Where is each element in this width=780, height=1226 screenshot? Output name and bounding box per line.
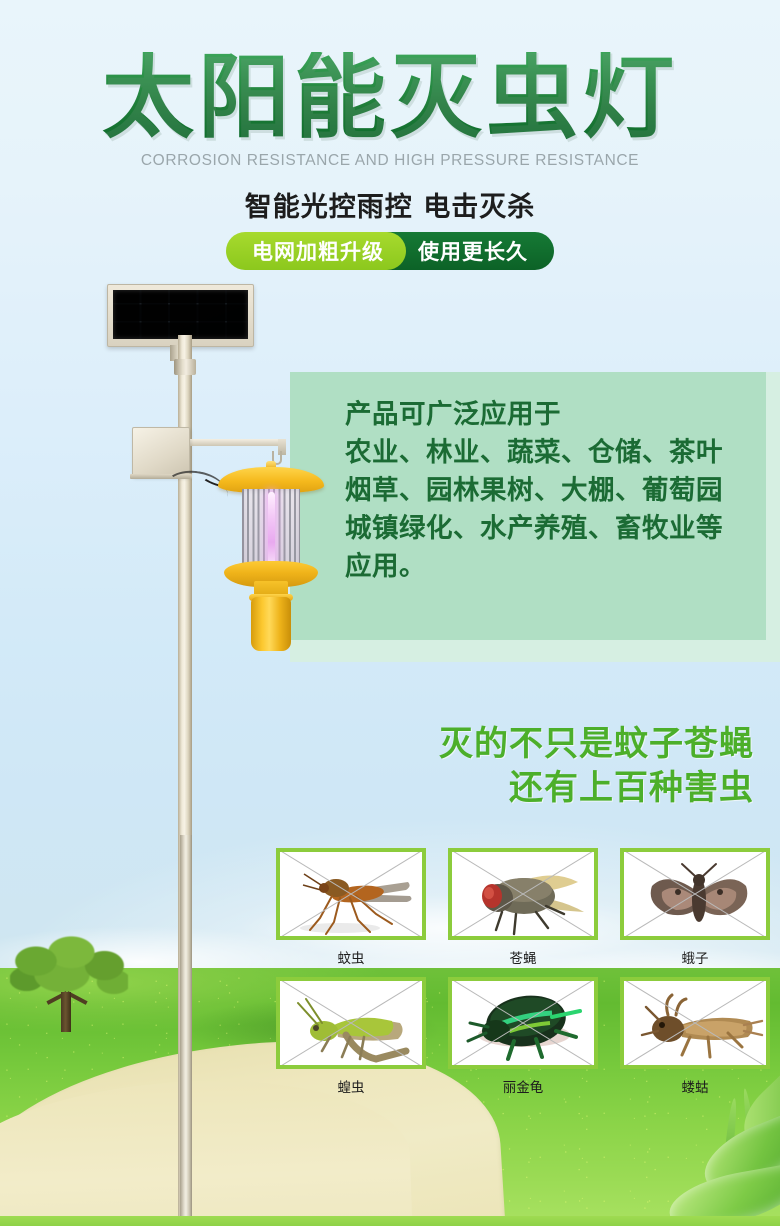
feature-badges: 电网加粗升级 使用更长久 [0,232,780,270]
insect-row: 蚊虫 苍蝇 [276,848,772,967]
insect-killer-lamp-icon [218,461,324,651]
insect-cell: 蛾子 [620,848,770,967]
insect-thumbnail [620,977,770,1069]
insect-row: 蝗虫 [276,977,772,1096]
product-poster: 太阳能灭虫灯 CORROSION RESISTANCE AND HIGH PRE… [0,0,780,1226]
insect-label: 蛾子 [620,947,770,967]
bottom-accent-strip [0,1216,780,1226]
insect-label: 蝼蛄 [620,1076,770,1096]
insect-label: 丽金龟 [448,1076,598,1096]
insect-cell: 丽金龟 [448,977,598,1096]
insect-grid: 蚊虫 苍蝇 [276,848,772,1106]
insect-thumbnail [448,977,598,1069]
application-line-4: 城镇绿化、水产养殖、畜牧业等 [345,510,755,548]
application-line-1: 产品可广泛应用于 [345,396,755,434]
insect-thumbnail [620,848,770,940]
application-line-2: 农业、林业、蔬菜、仓储、茶叶 [345,434,755,472]
insect-cell: 蝼蛄 [620,977,770,1096]
mounting-pole-lower [180,835,192,1226]
tree-trunk [61,992,71,1032]
subtitle-chinese: 智能光控雨控 电击灭杀 [0,185,780,224]
solar-panel-cells [113,290,248,339]
collection-bucket-icon [251,597,291,651]
badge-grid-upgrade: 电网加粗升级 [226,232,406,270]
subtitle-english: CORROSION RESISTANCE AND HIGH PRESSURE R… [0,152,780,170]
badge-long-life: 使用更长久 [384,232,554,270]
uv-tube-icon [268,492,275,564]
application-line-3: 烟草、园林果树、大棚、葡萄园 [345,472,755,510]
pole-joint [174,359,196,375]
insect-label: 苍蝇 [448,947,598,967]
controller-box-icon [132,427,190,477]
solar-lamp-assembly [100,275,340,1175]
insect-cell: 苍蝇 [448,848,598,967]
application-line-5: 应用。 [345,548,755,586]
insect-thumbnail [448,848,598,940]
application-panel-text: 产品可广泛应用于 农业、林业、蔬菜、仓储、茶叶 烟草、园林果树、大棚、葡萄园 城… [345,396,755,586]
page-title: 太阳能灭虫灯 [0,52,780,144]
